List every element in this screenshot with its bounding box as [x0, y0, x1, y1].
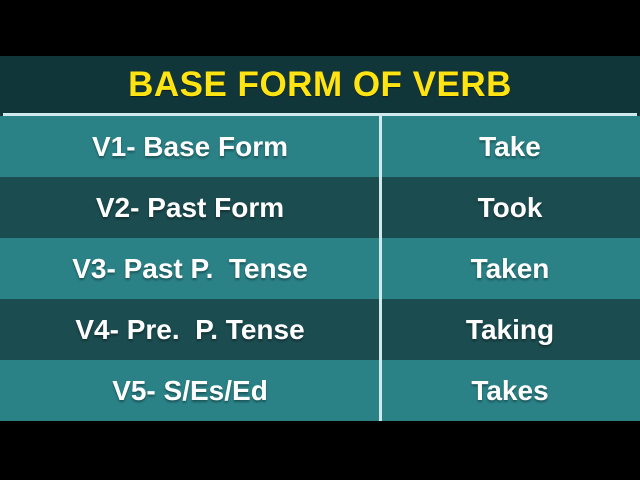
example-label: Take	[479, 133, 541, 161]
form-label: V3- Past P. Tense	[72, 255, 308, 283]
example-label: Taken	[471, 255, 550, 283]
form-label: V2- Past Form	[96, 194, 284, 222]
table-cell-form: V5- S/Es/Ed	[0, 360, 380, 421]
letterbox-top-bar	[0, 0, 640, 56]
table-cell-form: V2- Past Form	[0, 177, 380, 238]
slide-canvas: BASE FORM OF VERB V1- Base Form Take V2-…	[0, 0, 640, 480]
table-cell-form: V1- Base Form	[0, 116, 380, 177]
table-cell-example: Take	[380, 116, 640, 177]
example-label: Took	[478, 194, 543, 222]
page-title: BASE FORM OF VERB	[128, 67, 512, 102]
table-row: V1- Base Form Take	[0, 116, 640, 177]
table-cell-example: Took	[380, 177, 640, 238]
example-label: Takes	[471, 377, 548, 405]
letterbox-bottom-bar	[0, 421, 640, 480]
table-cell-example: Taken	[380, 238, 640, 299]
table-cell-example: Taking	[380, 299, 640, 360]
form-label: V5- S/Es/Ed	[112, 377, 268, 405]
table-row: V5- S/Es/Ed Takes	[0, 360, 640, 421]
example-label: Taking	[466, 316, 554, 344]
verb-forms-card: BASE FORM OF VERB V1- Base Form Take V2-…	[0, 56, 640, 421]
table-row: V3- Past P. Tense Taken	[0, 238, 640, 299]
verb-forms-table: V1- Base Form Take V2- Past Form Took V3…	[0, 116, 640, 421]
table-cell-form: V4- Pre. P. Tense	[0, 299, 380, 360]
table-cell-example: Takes	[380, 360, 640, 421]
table-row: V4- Pre. P. Tense Taking	[0, 299, 640, 360]
form-label: V1- Base Form	[92, 133, 288, 161]
table-cell-form: V3- Past P. Tense	[0, 238, 380, 299]
column-divider	[379, 116, 382, 421]
title-bar: BASE FORM OF VERB	[0, 56, 640, 113]
form-label: V4- Pre. P. Tense	[75, 316, 304, 344]
table-row: V2- Past Form Took	[0, 177, 640, 238]
